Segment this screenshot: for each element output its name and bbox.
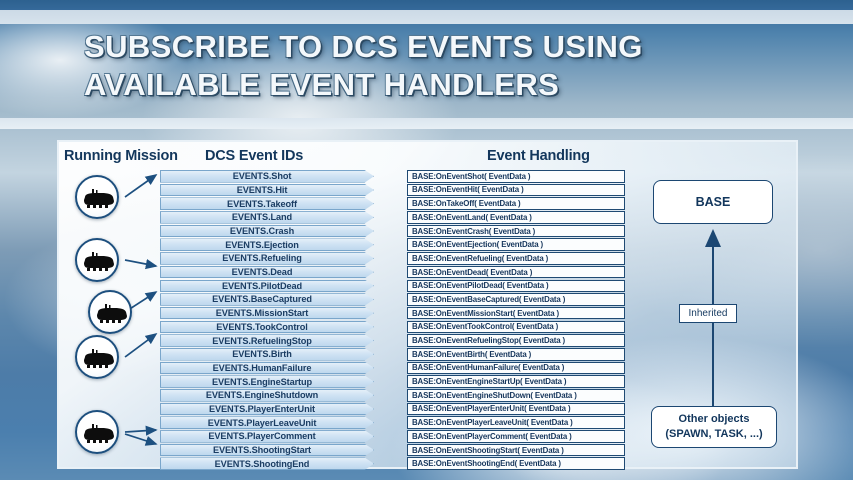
inherited-label: Inherited (679, 304, 737, 323)
event-id-chevron[interactable]: EVENTS.HumanFailure (160, 362, 374, 375)
event-handler-box[interactable]: BASE:OnEventEjection( EventData ) (407, 238, 625, 251)
event-handler-box[interactable]: BASE:OnEventHit( EventData ) (407, 184, 625, 197)
armored-vehicle-icon (95, 303, 129, 325)
event-id-chevron[interactable]: EVENTS.Crash (160, 225, 374, 238)
event-handler-box[interactable]: BASE:OnEventMissionStart( EventData ) (407, 307, 625, 320)
title-line-1: SUBSCRIBE TO DCS EVENTS USING (84, 28, 744, 66)
event-handler-list: BASE:OnEventShot( EventData )BASE:OnEven… (407, 170, 625, 471)
unit-icon-4[interactable] (75, 335, 119, 379)
event-id-chevron[interactable]: EVENTS.PlayerLeaveUnit (160, 416, 374, 429)
unit-icon-3[interactable] (88, 290, 132, 334)
inherited-text: Inherited (689, 308, 728, 319)
event-id-list: EVENTS.ShotEVENTS.HitEVENTS.TakeoffEVENT… (160, 170, 374, 471)
base-class-label: BASE (696, 195, 731, 209)
armored-vehicle-icon (82, 423, 116, 445)
other-objects-line-1: Other objects (679, 412, 750, 427)
unit-icon-2[interactable] (75, 238, 119, 282)
event-handler-box[interactable]: BASE:OnEventRefuelingStop( EventData ) (407, 334, 625, 347)
event-id-chevron[interactable]: EVENTS.Birth (160, 348, 374, 361)
event-handler-box[interactable]: BASE:OnEventTookControl( EventData ) (407, 321, 625, 334)
event-id-chevron[interactable]: EVENTS.PlayerEnterUnit (160, 403, 374, 416)
column-header-event-handling: Event Handling (487, 148, 590, 164)
event-id-chevron[interactable]: EVENTS.Ejection (160, 238, 374, 251)
event-id-chevron[interactable]: EVENTS.Takeoff (160, 197, 374, 210)
event-handler-box[interactable]: BASE:OnEventShootingStart( EventData ) (407, 444, 625, 457)
event-id-chevron[interactable]: EVENTS.ShootingEnd (160, 457, 374, 470)
event-handler-box[interactable]: BASE:OnEventCrash( EventData ) (407, 225, 625, 238)
column-header-dcs-event-ids: DCS Event IDs (205, 148, 303, 164)
other-objects-line-2: (SPAWN, TASK, ...) (665, 427, 762, 442)
event-id-chevron[interactable]: EVENTS.PilotDead (160, 280, 374, 293)
event-handler-box[interactable]: BASE:OnEventEngineShutDown( EventData ) (407, 389, 625, 402)
event-id-chevron[interactable]: EVENTS.RefuelingStop (160, 334, 374, 347)
page-title: SUBSCRIBE TO DCS EVENTS USING AVAILABLE … (84, 28, 744, 104)
event-handler-box[interactable]: BASE:OnEventEngineStartUp( EventData ) (407, 375, 625, 388)
event-id-chevron[interactable]: EVENTS.ShootingStart (160, 444, 374, 457)
armored-vehicle-icon (82, 188, 116, 210)
slide-canvas: SUBSCRIBE TO DCS EVENTS USING AVAILABLE … (0, 0, 853, 480)
column-header-running-mission: Running Mission (64, 148, 178, 164)
event-id-chevron[interactable]: EVENTS.EngineShutdown (160, 389, 374, 402)
armored-vehicle-icon (82, 251, 116, 273)
event-id-chevron[interactable]: EVENTS.PlayerComment (160, 430, 374, 443)
event-id-chevron[interactable]: EVENTS.TookControl (160, 321, 374, 334)
event-handler-box[interactable]: BASE:OnEventShootingEnd( EventData ) (407, 457, 625, 470)
event-handler-box[interactable]: BASE:OnEventBaseCaptured( EventData ) (407, 293, 625, 306)
event-handler-box[interactable]: BASE:OnEventPlayerLeaveUnit( EventData ) (407, 416, 625, 429)
event-id-chevron[interactable]: EVENTS.Hit (160, 184, 374, 197)
event-id-chevron[interactable]: EVENTS.Dead (160, 266, 374, 279)
event-handler-box[interactable]: BASE:OnEventRefueling( EventData ) (407, 252, 625, 265)
event-handler-box[interactable]: BASE:OnTakeOff( EventData ) (407, 197, 625, 210)
title-line-2: AVAILABLE EVENT HANDLERS (84, 66, 744, 104)
event-handler-box[interactable]: BASE:OnEventHumanFailure( EventData ) (407, 362, 625, 375)
unit-icon-1[interactable] (75, 175, 119, 219)
armored-vehicle-icon (82, 348, 116, 370)
event-handler-box[interactable]: BASE:OnEventBirth( EventData ) (407, 348, 625, 361)
event-handler-box[interactable]: BASE:OnEventLand( EventData ) (407, 211, 625, 224)
other-objects-box[interactable]: Other objects (SPAWN, TASK, ...) (651, 406, 777, 448)
top-band (0, 0, 853, 10)
base-class-box[interactable]: BASE (653, 180, 773, 224)
top-light-band (0, 10, 853, 24)
event-id-chevron[interactable]: EVENTS.EngineStartup (160, 375, 374, 388)
title-divider-band (0, 118, 853, 129)
event-id-chevron[interactable]: EVENTS.Land (160, 211, 374, 224)
event-handler-box[interactable]: BASE:OnEventDead( EventData ) (407, 266, 625, 279)
event-handler-box[interactable]: BASE:OnEventPlayerComment( EventData ) (407, 430, 625, 443)
event-id-chevron[interactable]: EVENTS.BaseCaptured (160, 293, 374, 306)
event-id-chevron[interactable]: EVENTS.Shot (160, 170, 374, 183)
event-id-chevron[interactable]: EVENTS.MissionStart (160, 307, 374, 320)
unit-icon-5[interactable] (75, 410, 119, 454)
event-handler-box[interactable]: BASE:OnEventPilotDead( EventData ) (407, 280, 625, 293)
diagram-panel: Running Mission DCS Event IDs Event Hand… (57, 140, 798, 469)
event-handler-box[interactable]: BASE:OnEventShot( EventData ) (407, 170, 625, 183)
event-handler-box[interactable]: BASE:OnEventPlayerEnterUnit( EventData ) (407, 403, 625, 416)
event-id-chevron[interactable]: EVENTS.Refueling (160, 252, 374, 265)
